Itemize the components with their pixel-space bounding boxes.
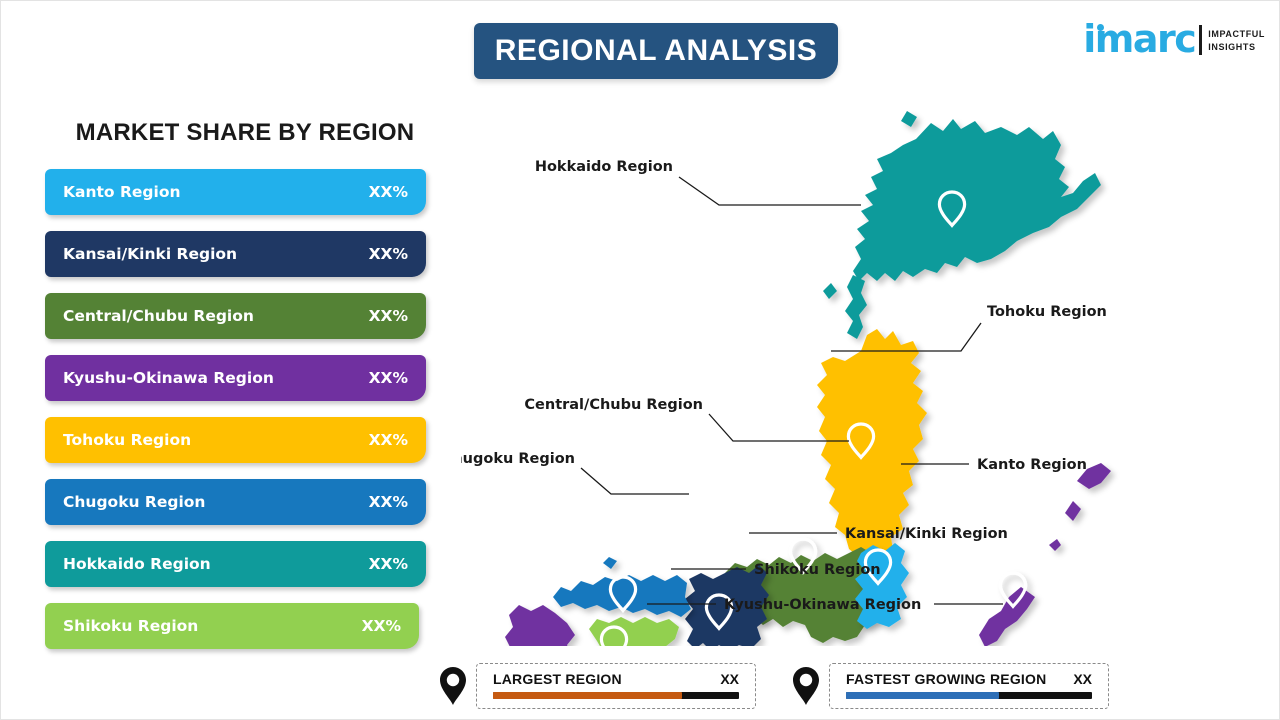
fastest-region-track: [846, 692, 1092, 699]
map-label-tohoku: Tohoku Region: [987, 304, 1107, 320]
logo-tagline-line1: IMPACTFUL: [1208, 28, 1265, 41]
fastest-region-fill: [846, 692, 999, 699]
legend-bar[interactable]: Central/Chubu RegionXX%: [45, 293, 426, 339]
map-label-kanto: Kanto Region: [977, 457, 1087, 473]
logo-divider: [1199, 25, 1202, 55]
panel-title: MARKET SHARE BY REGION: [45, 119, 445, 147]
legend-bar[interactable]: Hokkaido RegionXX%: [45, 541, 426, 587]
legend-bar-label: Kanto Region: [63, 183, 369, 201]
map-label-kansai: Kansai/Kinki Region: [845, 526, 1008, 542]
fastest-region-box: FASTEST GROWING REGION XX: [829, 663, 1109, 709]
imarc-logo: imarc IMPACTFUL INSIGHTS: [1083, 13, 1265, 57]
slide-root: REGIONAL ANALYSIS imarc IMPACTFUL INSIGH…: [0, 0, 1280, 720]
legend-bar[interactable]: Tohoku RegionXX%: [45, 417, 426, 463]
logo-tagline: IMPACTFUL INSIGHTS: [1208, 28, 1265, 54]
legend-bar-value: XX%: [369, 183, 408, 201]
legend-bar[interactable]: Kansai/Kinki RegionXX%: [45, 231, 426, 277]
map-region-chugoku[interactable]: [553, 557, 691, 617]
legend-bar-value: XX%: [362, 617, 401, 635]
largest-region-value: XX: [720, 671, 739, 687]
legend-bar-label: Tohoku Region: [63, 431, 369, 449]
fastest-growing-region-callout[interactable]: FASTEST GROWING REGION XX: [791, 663, 1109, 709]
fastest-region-label: FASTEST GROWING REGION: [846, 671, 1046, 687]
location-pin-icon: [791, 666, 821, 706]
map-region-shikoku[interactable]: [589, 617, 679, 646]
map-region-kyushu[interactable]: [477, 605, 575, 646]
legend-bar[interactable]: Kanto RegionXX%: [45, 169, 426, 215]
leader-chugoku: [581, 468, 689, 494]
map-label-hokkaido: Hokkaido Region: [535, 159, 673, 175]
legend-bar-value: XX%: [369, 307, 408, 325]
largest-region-box: LARGEST REGION XX: [476, 663, 756, 709]
map-region-tohoku[interactable]: [817, 329, 927, 557]
fastest-region-value: XX: [1073, 671, 1092, 687]
map-label-kyushu: Kyushu-Okinawa Region: [724, 597, 921, 613]
page-title-banner: REGIONAL ANALYSIS: [474, 23, 838, 79]
map-region-kanto[interactable]: [855, 543, 909, 629]
largest-region-label: LARGEST REGION: [493, 671, 622, 687]
market-share-panel: MARKET SHARE BY REGION Kanto RegionXX%Ka…: [45, 119, 445, 665]
legend-bar[interactable]: Shikoku RegionXX%: [45, 603, 419, 649]
legend-bar-value: XX%: [369, 245, 408, 263]
japan-region-map: Hokkaido Region Tohoku Region Central/Ch…: [461, 101, 1271, 646]
map-region-okinawa[interactable]: [973, 463, 1111, 646]
page-title: REGIONAL ANALYSIS: [495, 34, 817, 68]
legend-bar-value: XX%: [369, 431, 408, 449]
leader-hokkaido: [679, 177, 861, 205]
legend-bar-label: Chugoku Region: [63, 493, 369, 511]
legend-bar[interactable]: Kyushu-Okinawa RegionXX%: [45, 355, 426, 401]
map-label-chugoku: Chugoku Region: [461, 451, 575, 467]
legend-bar[interactable]: Chugoku RegionXX%: [45, 479, 426, 525]
largest-region-fill: [493, 692, 682, 699]
legend-bar-label: Kansai/Kinki Region: [63, 245, 369, 263]
map-label-chubu: Central/Chubu Region: [524, 397, 703, 413]
legend-bar-label: Kyushu-Okinawa Region: [63, 369, 369, 387]
legend-bar-label: Central/Chubu Region: [63, 307, 369, 325]
legend-bar-label: Hokkaido Region: [63, 555, 369, 573]
map-label-shikoku: Shikoku Region: [754, 562, 881, 578]
legend-bar-value: XX%: [369, 369, 408, 387]
legend-bar-value: XX%: [369, 555, 408, 573]
legend-list: Kanto RegionXX%Kansai/Kinki RegionXX%Cen…: [45, 169, 445, 649]
legend-bar-value: XX%: [369, 493, 408, 511]
largest-region-callout[interactable]: LARGEST REGION XX: [438, 663, 756, 709]
legend-bar-label: Shikoku Region: [63, 617, 362, 635]
largest-region-track: [493, 692, 739, 699]
logo-tagline-line2: INSIGHTS: [1208, 41, 1265, 54]
location-pin-icon: [438, 666, 468, 706]
